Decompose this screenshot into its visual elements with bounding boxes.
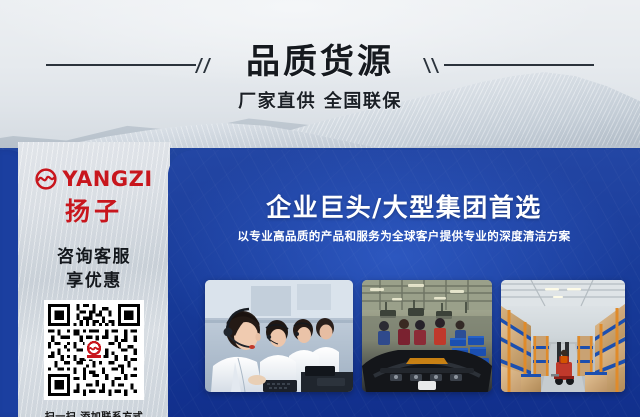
promotional-banner: 品质货源 厂家直供 全国联保 YANGZI 扬子 咨询客服 享优惠 bbox=[0, 0, 640, 417]
brand-name-cn: 扬子 bbox=[18, 192, 170, 228]
qr-caption: 扫一扫 添加联系方式 bbox=[18, 408, 170, 417]
panel-subheadline: 以专业高品质的产品和服务为全球客户提供专业的深度清洁方案 bbox=[168, 228, 640, 244]
hero-title: 品质货源 bbox=[0, 34, 640, 83]
warehouse-photo-image bbox=[501, 280, 625, 392]
factory-photo-image bbox=[362, 280, 492, 392]
brand-wordmark: YANGZI bbox=[62, 169, 152, 190]
qr-code-container[interactable] bbox=[44, 300, 144, 400]
hero-subtitle: 厂家直供 全国联保 bbox=[0, 87, 640, 113]
warehouse-logistics-photo[interactable] bbox=[501, 280, 625, 392]
brand-card: YANGZI 扬子 咨询客服 享优惠 bbox=[18, 142, 170, 417]
customer-service-photo-image bbox=[205, 280, 353, 392]
cta-line-2: 享优惠 bbox=[18, 266, 170, 291]
qr-code-icon[interactable] bbox=[48, 304, 140, 396]
main-blue-panel: 企业巨头/大型集团首选 以专业高品质的产品和服务为全球客户提供专业的深度清洁方案 bbox=[168, 150, 640, 417]
brand-logo: YANGZI bbox=[18, 166, 170, 192]
factory-assembly-line-photo[interactable] bbox=[362, 280, 492, 392]
panel-headline: 企业巨头/大型集团首选 bbox=[168, 188, 640, 224]
photo-strip bbox=[205, 280, 625, 392]
yangzi-circle-wave-logo-icon bbox=[35, 168, 57, 190]
cta-line-1: 咨询客服 bbox=[18, 242, 170, 267]
customer-service-team-photo[interactable] bbox=[205, 280, 353, 392]
